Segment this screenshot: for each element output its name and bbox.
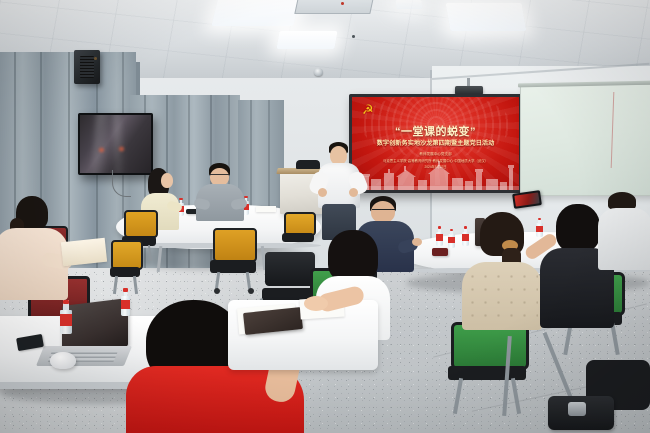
computer-mouse: [50, 352, 76, 369]
orange-mesh-chair-back-2: [210, 228, 256, 290]
speaker-led-icon: [94, 57, 97, 60]
ceiling-light-2: [446, 3, 527, 31]
chair-backrest: [124, 210, 158, 238]
speaker-grille: [80, 56, 95, 78]
hair: [328, 230, 378, 282]
hand-left: [318, 188, 327, 197]
hand: [304, 296, 328, 311]
water-bottle-foreground-1: [60, 300, 72, 334]
attendee-far-right: [598, 192, 650, 270]
head: [161, 173, 173, 188]
water-bottle-rt-1: [436, 226, 443, 246]
laptop-computer: [34, 302, 130, 370]
ceiling-dome-camera: [314, 68, 323, 76]
screen-red-reflection-2: [117, 146, 126, 152]
papers-on-left-lap: [61, 238, 107, 266]
smartphone-on-table-center: [432, 248, 448, 256]
chair-leg: [511, 378, 521, 414]
ceiling-indicator-light: [341, 2, 344, 5]
chair-leg: [113, 276, 118, 294]
city-skyline-graphic: [352, 160, 519, 190]
television-screen: [80, 115, 151, 173]
attendee-left-table-man: [196, 163, 244, 221]
chair-caster: [248, 288, 254, 294]
chair-leg: [453, 378, 463, 414]
screen-glare: [91, 115, 110, 173]
hammer-sickle-emblem: ☭: [362, 103, 374, 116]
ceiling-light-1: [211, 0, 300, 26]
attendee-left-front: [0, 196, 70, 300]
whiteboard: [520, 84, 650, 196]
screen-glare-secondary: [112, 115, 124, 173]
wall-mounted-television: [78, 113, 153, 175]
glasses-icon: [210, 174, 229, 178]
torso: [598, 208, 650, 270]
attendee-foreground-right-arm: [296, 284, 364, 330]
orange-mesh-chair-back-3: [282, 212, 314, 252]
chair-caster: [214, 288, 220, 294]
screen-red-reflection-1: [97, 147, 106, 153]
presentation-slide: ☭ “一堂课的蜕变” 数字创新务实地沙龙第四期暨主题党日活动 教师发展中心党支部…: [352, 97, 519, 190]
wall-speaker: [74, 50, 100, 84]
slide-subtitle: 数字创新务实地沙龙第四期暨主题党日活动: [352, 138, 519, 147]
chair-seat: [282, 233, 314, 242]
hand: [412, 238, 422, 246]
ceiling-air-vent: [294, 0, 373, 14]
hair: [556, 204, 600, 252]
orange-mesh-chair-far-left: [110, 240, 140, 294]
photo-scene: ☭ “一堂课的蜕变” 数字创新务实地沙龙第四期暨主题党日活动 教师发展中心党支部…: [0, 0, 650, 433]
ceiling-sensor-dot: [352, 35, 355, 38]
green-mesh-chair-1: [448, 322, 526, 414]
chair-backrest: [111, 240, 143, 270]
bag-buckle-icon: [568, 402, 586, 416]
paper-on-left-table: [256, 206, 276, 212]
phone-screen-preview: [514, 192, 539, 206]
projection-screen: ☭ “一堂课的蜕变” 数字创新务实地沙龙第四期暨主题党日活动 教师发展中心党支部…: [349, 94, 522, 193]
chair-leg: [148, 245, 152, 261]
slide-org-line: 教师发展中心党支部: [352, 152, 519, 157]
glasses-icon: [372, 209, 395, 214]
ceiling-light-3: [276, 31, 337, 49]
attendee-right-beige: [462, 212, 542, 330]
chair-leg: [133, 276, 138, 294]
slide-title: “一堂课的蜕变”: [352, 123, 519, 139]
water-bottle-rt-3: [448, 229, 455, 248]
ceiling-light-4: [395, 0, 422, 9]
torso-pattern: [466, 270, 538, 326]
chair-backrest: [213, 228, 257, 262]
